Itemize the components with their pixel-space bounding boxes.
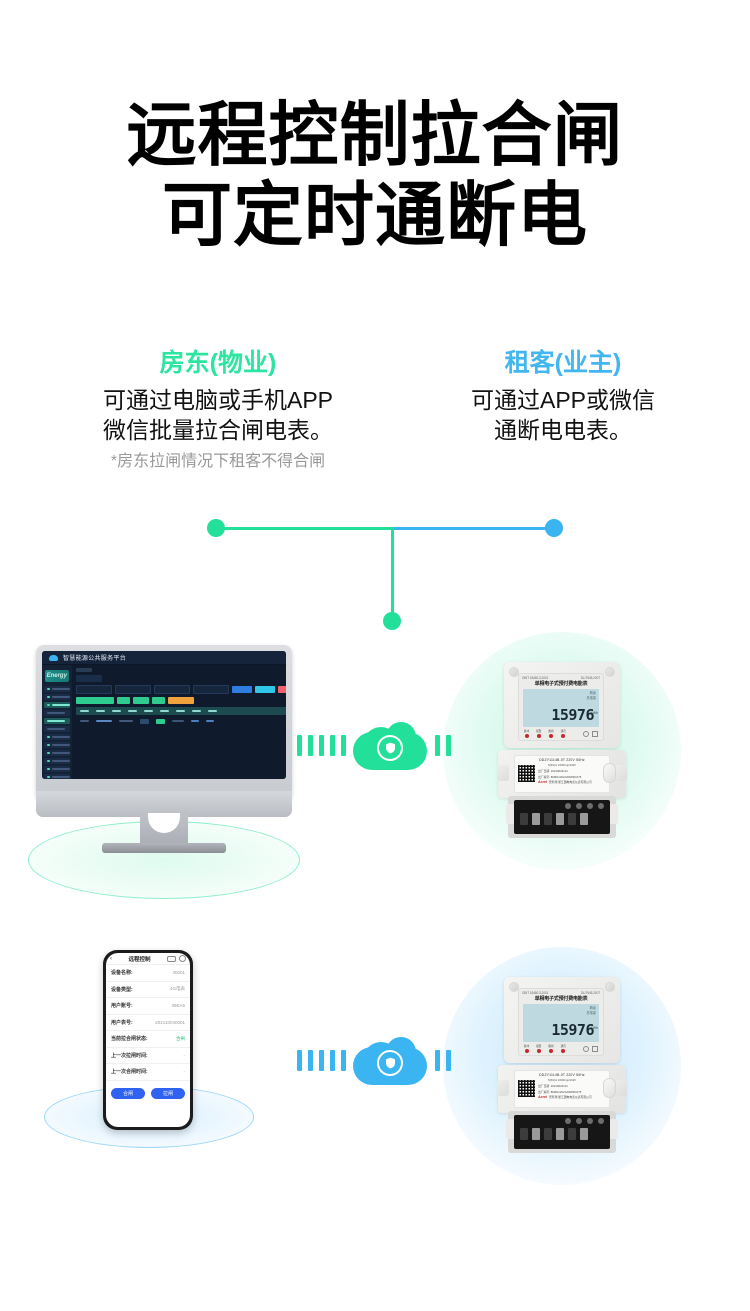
screw-icon (605, 667, 615, 677)
meter-led-3: 通讯 (561, 729, 566, 738)
dashboard-header: 智慧能源公共服务平台 (42, 651, 286, 665)
shield-icon (377, 1050, 403, 1076)
row-key: 设备类型: (111, 986, 133, 993)
dash-mark (435, 1050, 440, 1071)
led-icon (525, 734, 529, 738)
bullet-icon (47, 752, 50, 755)
connector-dot-right (545, 519, 563, 537)
phone-title: 远程控制 (128, 955, 150, 963)
led-icon (537, 1049, 541, 1053)
sidebar-item-10[interactable] (44, 766, 70, 772)
list-item: 设备名称: 40001 (106, 965, 190, 982)
filter-button-batch-close[interactable] (232, 686, 252, 693)
connector-dot-bottom (383, 612, 401, 630)
signal-dashes-right-top (435, 735, 451, 756)
status-badge-state (140, 719, 149, 724)
meter-led-3: 通讯 (561, 1044, 566, 1053)
meter-knob (603, 1078, 616, 1098)
meter-terminal-cover (508, 796, 616, 838)
phone-frame: ‹ 远程控制 设备名称: 40001 设备类型: 4G电表 用户账号: (103, 950, 193, 1130)
meter-terminal-block (514, 800, 610, 834)
sidebar-item-8[interactable] (44, 750, 70, 756)
phone-nav-actions[interactable] (167, 955, 186, 962)
filter-button-batch-open[interactable] (255, 686, 275, 693)
terminal-screw-icon (565, 1118, 571, 1124)
bullet-icon (47, 768, 50, 771)
dash-mark (330, 1050, 335, 1071)
meter-indicator-row: 脉冲 报警 跳闸 通讯 (519, 1042, 603, 1053)
row-value: - (184, 1053, 186, 1058)
list-item: 用户表号: 202110040001 (106, 1015, 190, 1032)
dashboard-content (72, 665, 287, 779)
action-button-send-command[interactable] (76, 697, 114, 704)
terminal-screw-icon (598, 803, 604, 809)
lcd-label-sub: 总电量 (526, 1011, 596, 1016)
more-icon[interactable] (167, 956, 176, 962)
sidebar-item-1[interactable] (44, 694, 70, 700)
sidebar-item-3[interactable] (44, 710, 70, 716)
connector-diagram (0, 500, 750, 640)
action-button-open-switch[interactable] (133, 697, 149, 704)
brand-name: Acrel (538, 780, 547, 784)
action-bar (76, 697, 287, 704)
open-switch-button[interactable]: 拉闸 (151, 1088, 185, 1099)
list-item: 用户账号: 39EA5 (106, 998, 190, 1015)
signal-dashes-right-bottom (435, 1050, 451, 1071)
sidebar-item-9[interactable] (44, 758, 70, 764)
cloud-shape-green (353, 722, 427, 770)
row-value: 202110040001 (155, 1020, 185, 1025)
cloud-shape-blue (353, 1037, 427, 1085)
nameplate-sn: 出厂编号: 89961120212DM001075 (538, 1090, 606, 1094)
meter-label-body: DDZY1114B-0T 220V 50Hz 5(60)A 1600imp/kW… (498, 750, 626, 798)
lcd-value: 15976 (551, 1021, 594, 1039)
meter-led-2: 跳闸 (548, 1044, 553, 1053)
meter-label-body: DDZY1114B-0T 220V 50Hz 5(60)A 1600imp/kW… (498, 1065, 626, 1113)
row-key: 设备名称: (111, 969, 133, 976)
sidebar-item-7[interactable] (44, 742, 70, 748)
dashboard-title: 智慧能源公共服务平台 (63, 653, 126, 662)
meter-faceplate: GB/T 18460.3-2001 DL/T645-2007 单相电子式预付费电… (518, 673, 604, 741)
led-icon (549, 1049, 553, 1053)
row-key: 用户账号: (111, 1002, 133, 1009)
meter-product-name: 单相电子式预付费电能表 (519, 995, 603, 1002)
list-item: 设备类型: 4G电表 (106, 982, 190, 999)
electric-meter-bottom: GB/T 18460.3-2001 DL/T645-2007 单相电子式预付费电… (498, 977, 626, 1153)
terminal-screw-icon (576, 1118, 582, 1124)
tenant-body-line-1: 可通过APP或微信 (398, 385, 728, 415)
meter-indicator-row: 脉冲 报警 跳闸 通讯 (519, 727, 603, 738)
dash-mark (435, 735, 440, 756)
connector-line-vertical (391, 527, 394, 622)
nameplate-sn: 出厂编号: 89961120212DM001075 (538, 775, 606, 779)
filter-button-force-open[interactable] (278, 686, 287, 693)
list-item: 上一次合闸时间: - (106, 1064, 190, 1081)
dash-mark (297, 1050, 302, 1071)
terminal-screw-icon (565, 803, 571, 809)
led-icon (537, 734, 541, 738)
meter-nameplate: DDZY1114B-0T 220V 50Hz 5(60)A 1600imp/kW… (514, 755, 610, 793)
circle-icon (583, 1046, 589, 1052)
brand-company: 安科瑞 浙江国电电表仪表有限公司 (549, 780, 592, 784)
dash-mark (341, 735, 346, 756)
phone-action-buttons: 合闸 拉闸 (106, 1081, 190, 1099)
dash-mark (308, 1050, 313, 1071)
meter-lcd-display: 剩余 总电量 15976 kWh (523, 689, 599, 727)
nameplate-model: DDZY1114B-0T 220V 50Hz (518, 758, 606, 762)
back-icon[interactable]: ‹ (110, 956, 112, 962)
nameplate-model: DDZY1114B-0T 220V 50Hz (518, 1073, 606, 1077)
target-icon[interactable] (179, 955, 186, 962)
filter-select-3[interactable] (154, 685, 190, 694)
brand-name: Acrel (538, 1095, 547, 1099)
filter-bar (76, 685, 287, 694)
nameplate-date: 出厂日期: 20210622121 (538, 769, 606, 773)
row-key: 用户表号: (111, 1019, 133, 1026)
led-icon (549, 734, 553, 738)
electric-meter-top: GB/T 18460.3-2001 DL/T645-2007 单相电子式预付费电… (498, 662, 626, 838)
meter-led-2: 跳闸 (548, 729, 553, 738)
bullet-icon (47, 760, 50, 763)
screw-icon (605, 982, 615, 992)
meter-knob (603, 763, 616, 783)
meter-small-icons (583, 731, 598, 737)
lcd-value: 15976 (551, 706, 594, 724)
sidebar-item-4[interactable] (44, 718, 70, 724)
mount-ear-left (497, 1080, 509, 1096)
lcd-label-sub: 总电量 (526, 696, 596, 701)
breadcrumb (76, 668, 92, 672)
headline-line-1: 远程控制拉合闸 (127, 96, 624, 174)
row-value: 4G电表 (170, 986, 185, 992)
meter-upper-body: GB/T 18460.3-2001 DL/T645-2007 单相电子式预付费电… (504, 662, 620, 748)
brand-company: 安科瑞 浙江国电电表仪表有限公司 (549, 1095, 592, 1099)
landlord-title: 房东(物业) (38, 348, 398, 378)
table-row[interactable] (76, 717, 287, 725)
bullet-icon (47, 704, 50, 707)
mount-ear-left (497, 765, 509, 781)
filter-select-4[interactable] (193, 685, 229, 694)
meter-faceplate: GB/T 18460.3-2001 DL/T645-2007 单相电子式预付费电… (518, 988, 604, 1056)
filter-select-1[interactable] (76, 685, 112, 694)
monitor-foot (102, 843, 226, 853)
dashboard-sidebar[interactable]: Energy (42, 665, 72, 779)
terminal-screw-icon (587, 803, 593, 809)
action-button-export[interactable] (168, 697, 194, 704)
monitor-bezel: 智慧能源公共服务平台 Energy (36, 645, 292, 797)
phone-navbar: ‹ 远程控制 (106, 953, 190, 965)
phone-screen: ‹ 远程控制 设备名称: 40001 设备类型: 4G电表 用户账号: (106, 953, 190, 1127)
caption-columns: 房东(物业) 可通过电脑或手机APP 微信批量拉合闸电表。 *房东拉闸情况下租客… (0, 348, 750, 508)
led-icon (525, 1049, 529, 1053)
status-badge: 合闸 (176, 1036, 185, 1042)
mount-ear-right (615, 765, 627, 781)
meter-small-icons (583, 1046, 598, 1052)
dash-mark (308, 735, 313, 756)
qr-code-icon (518, 1080, 535, 1097)
action-button-refresh[interactable] (152, 697, 165, 704)
meter-terminal-cover (508, 1111, 616, 1153)
dash-mark (446, 1050, 451, 1071)
qr-code-icon (518, 765, 535, 782)
dash-mark (446, 735, 451, 756)
page-title: 远程控制拉合闸 可定时通断电 (0, 95, 750, 255)
tenant-body-line-2: 通断电电表。 (398, 415, 728, 445)
list-item: 当前拉合闸状态: 合闸 (106, 1031, 190, 1048)
content-tab[interactable] (76, 675, 102, 682)
signal-dashes-left-bottom (297, 1050, 346, 1071)
landlord-column: 房东(物业) 可通过电脑或手机APP 微信批量拉合闸电表。 *房东拉闸情况下租客… (38, 348, 398, 473)
led-icon (561, 1049, 565, 1053)
sidebar-item-2[interactable] (44, 702, 70, 708)
sidebar-item-11[interactable] (44, 774, 70, 779)
terminal-screw-icon (598, 1118, 604, 1124)
square-icon (592, 731, 598, 737)
filter-select-2[interactable] (115, 685, 151, 694)
square-icon (592, 1046, 598, 1052)
sidebar-item-0[interactable] (44, 686, 70, 692)
landlord-body-line-2: 微信批量拉合闸电表。 (38, 415, 398, 445)
monitor-screen: 智慧能源公共服务平台 Energy (42, 651, 286, 779)
meter-lcd-display: 剩余 总电量 15976 kWh (523, 1004, 599, 1042)
shield-icon (377, 735, 403, 761)
meter-led-1: 报警 (536, 1044, 541, 1053)
row-key: 上一次拉闸时间: (111, 1052, 148, 1059)
mobile-phone: ‹ 远程控制 设备名称: 40001 设备类型: 4G电表 用户账号: (103, 950, 195, 1150)
dash-mark (297, 735, 302, 756)
meter-upper-body: GB/T 18460.3-2001 DL/T645-2007 单相电子式预付费电… (504, 977, 620, 1063)
terminal-screw-icon (587, 1118, 593, 1124)
row-key: 上一次合闸时间: (111, 1068, 148, 1075)
dash-mark (341, 1050, 346, 1071)
cloud-badge-bottom (297, 1037, 467, 1085)
dashboard-logo: Energy (45, 670, 69, 682)
connector-line-right (392, 527, 557, 530)
bullet-icon (47, 696, 50, 699)
row-value: 40001 (172, 970, 185, 975)
bullet-icon (47, 776, 50, 779)
connector-dot-left (207, 519, 225, 537)
bullet-icon (47, 688, 50, 691)
status-badge-closed (156, 719, 165, 724)
lcd-unit: kWh (591, 1026, 598, 1030)
cloud-icon (49, 655, 58, 661)
row-key: 当前拉合闸状态: (111, 1035, 148, 1042)
cloud-badge-top (297, 722, 467, 770)
tenant-column: 租客(业主) 可通过APP或微信 通断电电表。 (398, 348, 728, 445)
sidebar-item-5[interactable] (44, 726, 70, 732)
meter-led-0: 脉冲 (524, 729, 529, 738)
nameplate-date: 出厂日期: 20210622121 (538, 1084, 606, 1088)
dash-mark (319, 735, 324, 756)
meter-led-1: 报警 (536, 729, 541, 738)
connector-line-left (221, 527, 395, 530)
terminal-screw-icon (576, 803, 582, 809)
tenant-title: 租客(业主) (398, 348, 728, 378)
bullet-icon (47, 744, 50, 747)
mount-ear-right (615, 1080, 627, 1096)
led-icon (561, 734, 565, 738)
dash-mark (330, 735, 335, 756)
list-item: 上一次拉闸时间: - (106, 1048, 190, 1065)
dash-mark (319, 1050, 324, 1071)
row-value: - (184, 1069, 186, 1074)
sidebar-item-6[interactable] (44, 734, 70, 740)
landlord-body-line-1: 可通过电脑或手机APP (38, 385, 398, 415)
circle-icon (583, 731, 589, 737)
action-button-close-switch[interactable] (117, 697, 130, 704)
row-value: 39EA5 (171, 1003, 185, 1008)
bullet-icon (47, 736, 50, 739)
meter-nameplate: DDZY1114B-0T 220V 50Hz 5(60)A 1600imp/kW… (514, 1070, 610, 1108)
landlord-note: *房东拉闸情况下租客不得合闸 (38, 451, 398, 473)
desktop-monitor: 智慧能源公共服务平台 Energy (36, 645, 292, 860)
close-switch-button[interactable]: 合闸 (111, 1088, 145, 1099)
poster-root: 远程控制拉合闸 可定时通断电 房东(物业) 可通过电脑或手机APP 微信批量拉合… (0, 0, 750, 1311)
table-header-row (76, 707, 287, 715)
signal-dashes-left-top (297, 735, 346, 756)
headline-line-2: 可定时通断电 (0, 175, 750, 255)
lcd-unit: kWh (591, 711, 598, 715)
meter-led-0: 脉冲 (524, 1044, 529, 1053)
meter-product-name: 单相电子式预付费电能表 (519, 680, 603, 687)
meter-terminal-block (514, 1115, 610, 1149)
